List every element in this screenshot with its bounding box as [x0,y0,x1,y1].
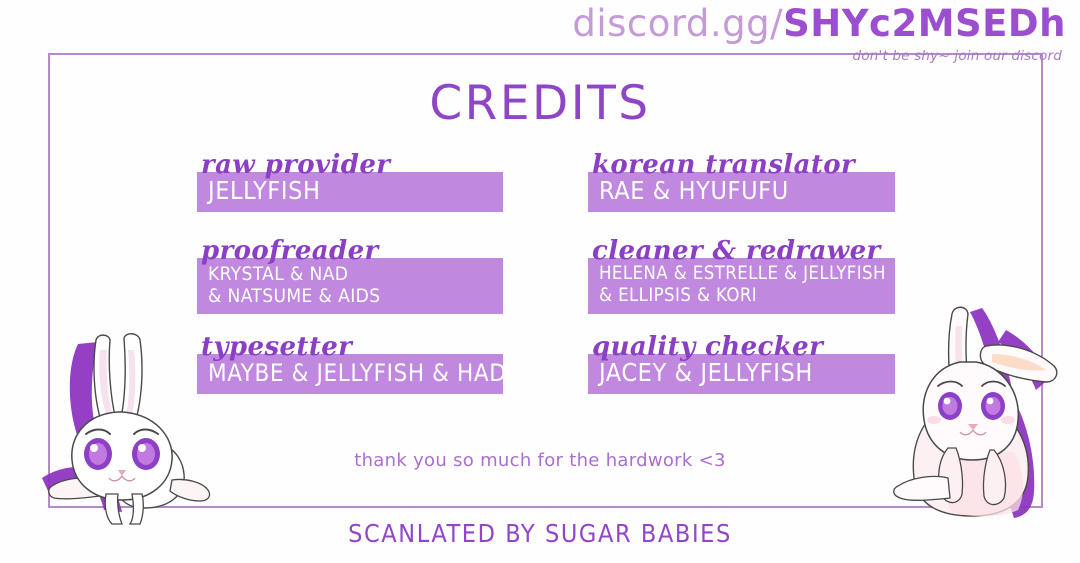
credit-name-line: RAE & HYUFUFU [588,177,895,205]
credit-name-line: HELENA & ESTRELLE & JELLYFISH [588,263,895,285]
discord-link[interactable]: discord.gg/SHYc2MSEDh [446,2,1066,46]
page-title: CREDITS [0,76,1080,131]
credits-column-left: raw provider JELLYFISH proofreader KRYST… [197,150,503,394]
discord-tagline: don't be shy~ join our discord [446,48,1062,64]
credit-entry-cleaner-redrawer: cleaner & redrawer HELENA & ESTRELLE & J… [588,236,895,314]
credits-column-right: korean translator RAE & HYUFUFU cleaner … [588,150,895,394]
credit-entry-typesetter: typesetter MAYBE & JELLYFISH & HADES [197,332,503,394]
spacer [588,212,895,236]
credit-name-band: KRYSTAL & NAD & NATSUME & AIDS [197,258,503,314]
credit-name-band: HELENA & ESTRELLE & JELLYFISH & ELLIPSIS… [588,258,895,314]
credit-entry-quality-checker: quality checker JACEY & JELLYFISH [588,332,895,394]
credit-name-line: MAYBE & JELLYFISH & HADES [197,359,503,387]
credit-name-line: JELLYFISH [197,177,503,205]
credits-page: discord.gg/SHYc2MSEDh don't be shy~ join… [0,0,1080,563]
spacer [197,212,503,236]
credit-role-label: korean translator [592,150,895,180]
bunny-sitting-up-illustration [890,300,1075,528]
credit-role-label: cleaner & redrawer [592,236,895,266]
credit-entry-raw-provider: raw provider JELLYFISH [197,150,503,212]
credit-name-line: & ELLIPSIS & KORI [588,285,895,307]
credit-role-label: typesetter [201,332,503,362]
credit-name-line: & NATSUME & AIDS [197,285,503,307]
credit-role-label: quality checker [592,332,895,362]
discord-domain-text: discord.gg/ [572,2,783,45]
discord-header: discord.gg/SHYc2MSEDh don't be shy~ join… [446,2,1066,64]
bunny-lying-down-illustration [22,328,222,528]
spacer [197,314,503,332]
credit-role-label: raw provider [201,150,503,180]
credit-name-line: KRYSTAL & NAD [197,263,503,285]
spacer [588,314,895,332]
credit-entry-proofreader: proofreader KRYSTAL & NAD & NATSUME & AI… [197,236,503,314]
discord-invite-code: SHYc2MSEDh [783,2,1066,45]
credit-entry-korean-translator: korean translator RAE & HYUFUFU [588,150,895,212]
credit-name-line: JACEY & JELLYFISH [588,359,895,387]
credit-role-label: proofreader [201,236,503,266]
